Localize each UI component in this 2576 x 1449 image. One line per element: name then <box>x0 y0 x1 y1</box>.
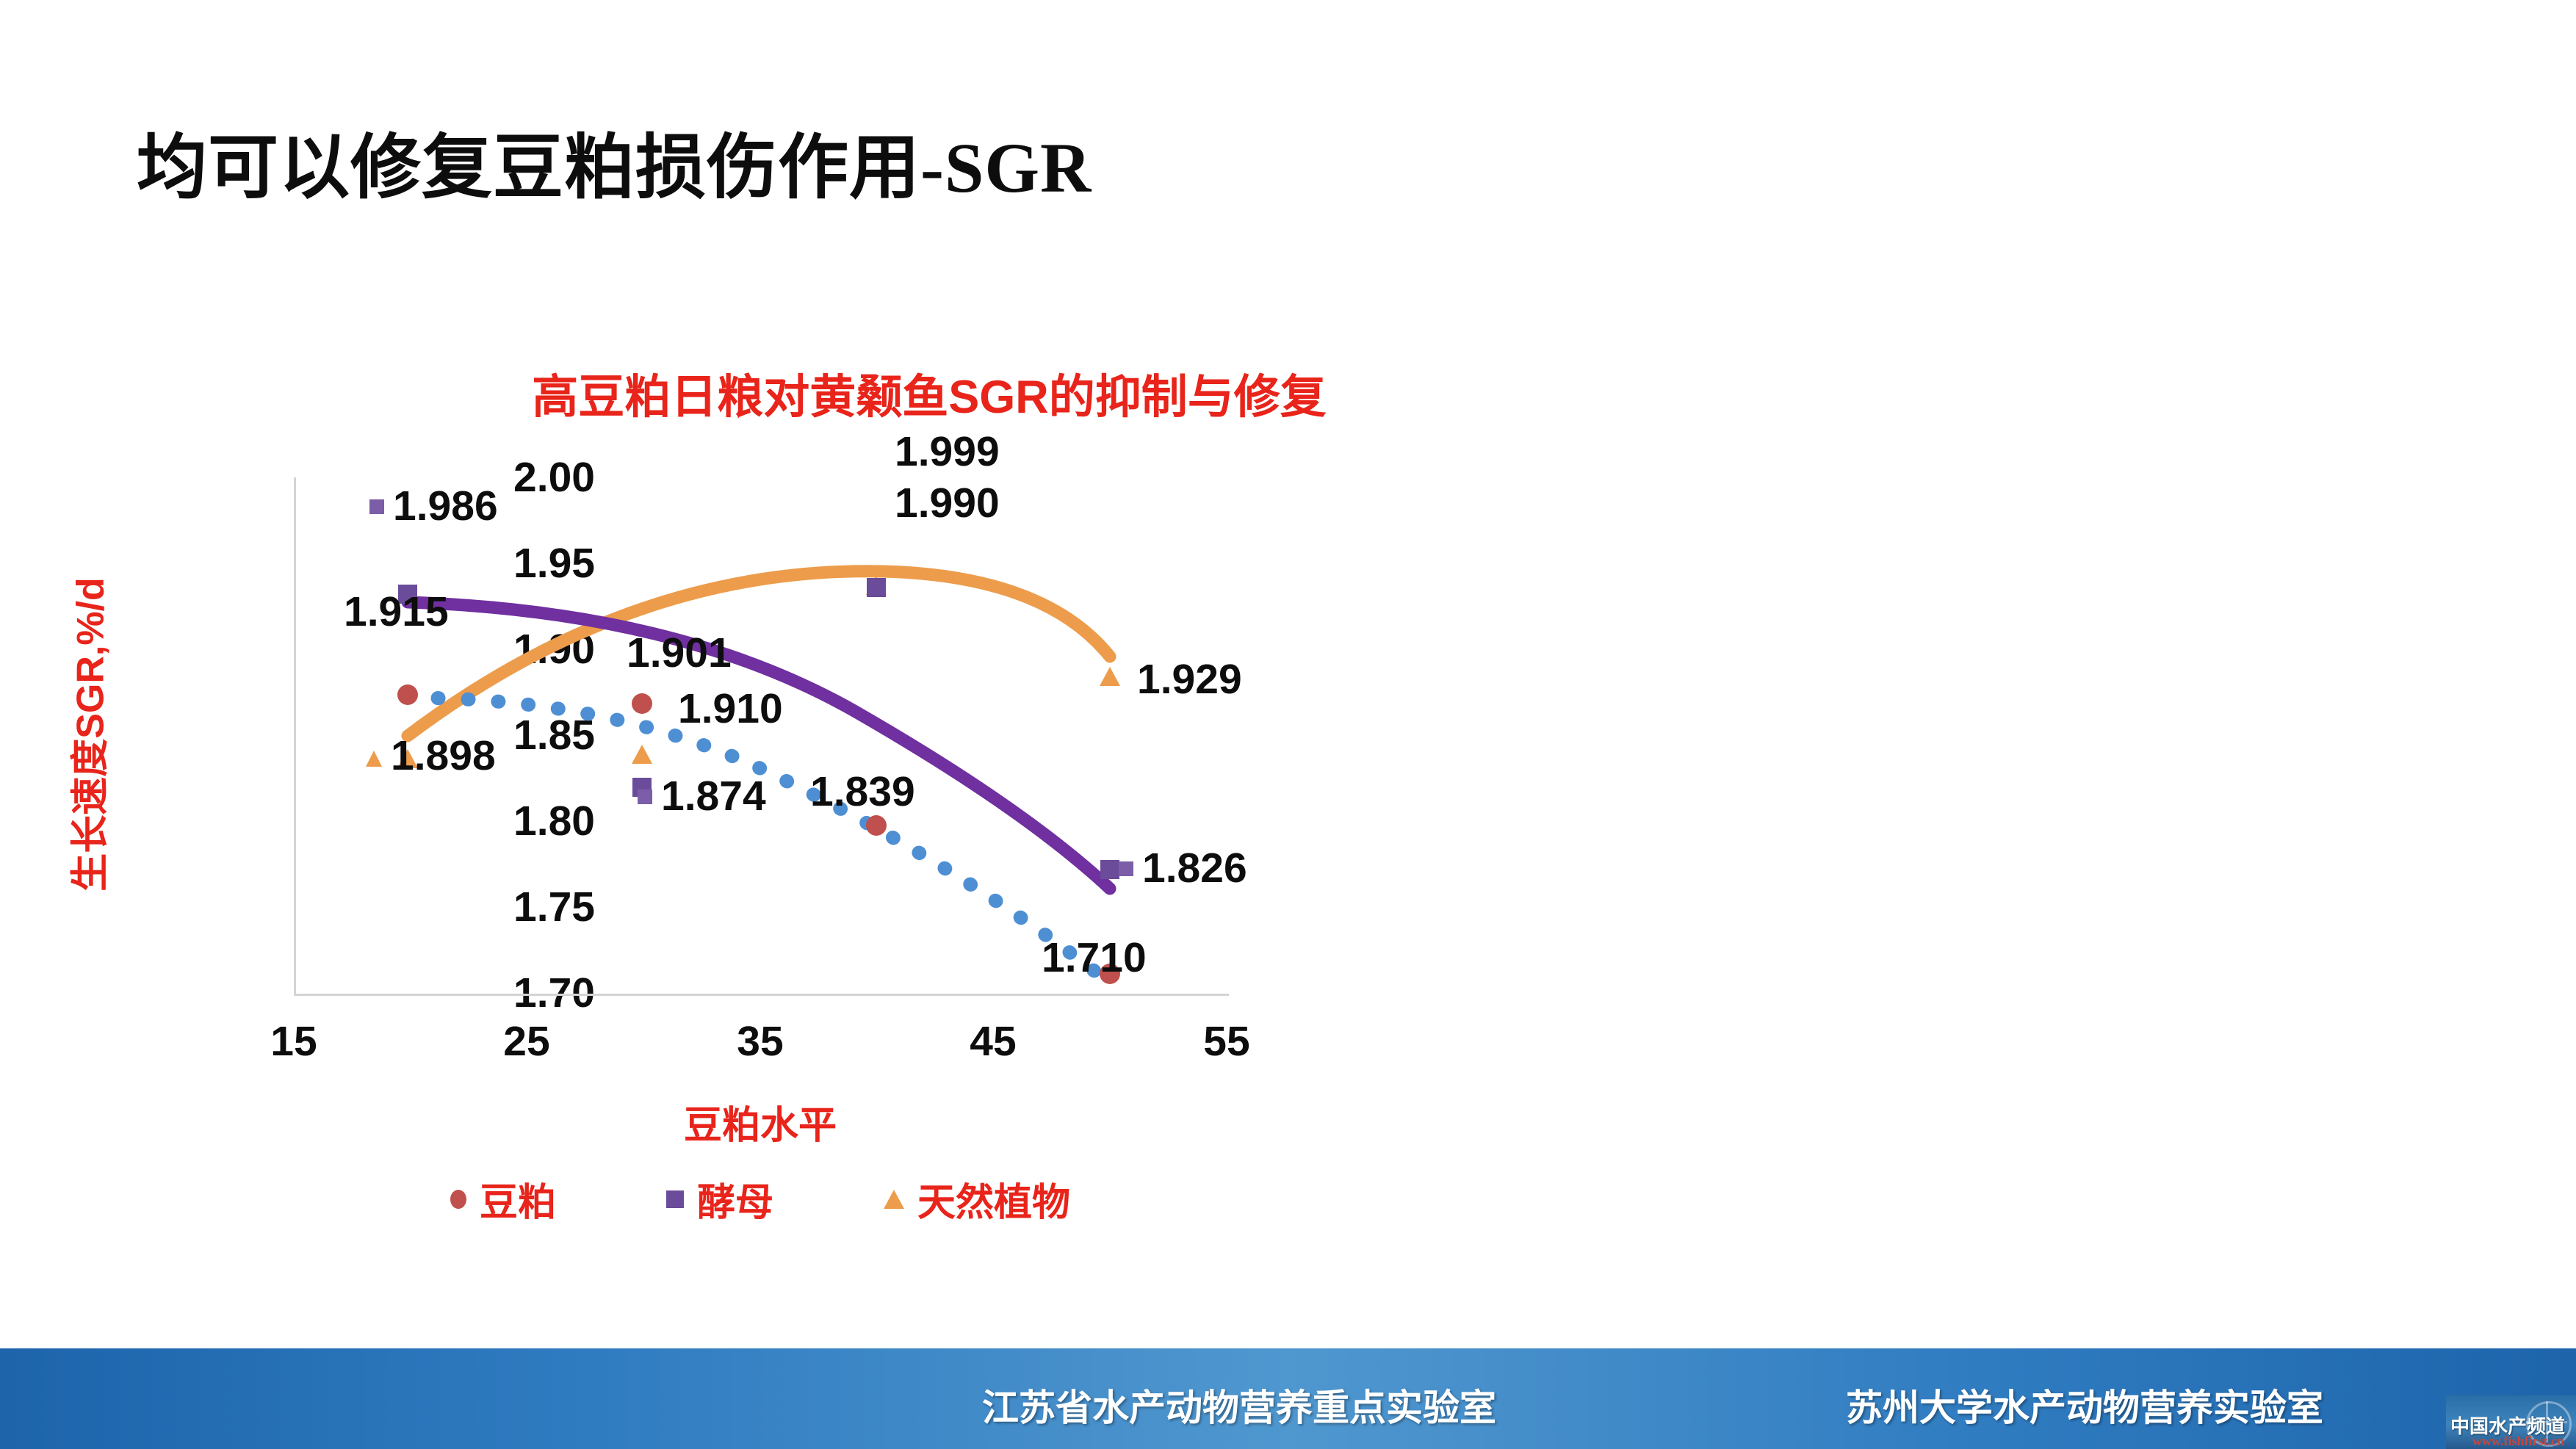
trendline-soybean-meal <box>408 698 1111 984</box>
data-label-yeast-50: 1.826 <box>1119 844 1247 892</box>
data-point-natural-plant <box>632 745 652 764</box>
data-label-soybean-meal-50: 1.710 <box>1042 933 1147 982</box>
data-label-natural-plant-20: 1.898 <box>366 731 496 780</box>
legend-label: 豆粕 <box>480 1171 556 1226</box>
data-label-yeast-40: 1.990 <box>895 479 1000 527</box>
legend-label: 酵母 <box>697 1171 773 1226</box>
legend-item-yeast[interactable]: 酵母 <box>666 1171 773 1226</box>
page-title: 均可以修复豆粕损伤作用-SGR <box>137 110 1092 212</box>
data-label-yeast-20: 1.986 <box>369 482 498 530</box>
trendline-yeast <box>408 602 1110 889</box>
chart-container: 高豆粕日粮对黄颡鱼SGR的抑制与修复 生长速度SGR,%/d 2.00 1.95… <box>0 345 1836 1300</box>
data-point-yeast <box>1100 860 1119 879</box>
data-label-natural-plant-30: 1.901 <box>627 629 732 677</box>
x-axis-tick: 45 <box>934 1017 1052 1066</box>
triangle-marker-icon <box>884 1190 904 1209</box>
x-axis-tick: 55 <box>1168 1017 1285 1066</box>
legend-item-natural-plant[interactable]: 天然植物 <box>884 1171 1070 1226</box>
data-point-soybean-meal <box>632 693 652 714</box>
square-marker-icon <box>666 1190 684 1208</box>
data-label-natural-plant-40: 1.999 <box>895 427 1000 476</box>
footer-lab-jiangsu: 江苏省水产动物营养重点实验室 <box>982 1378 1496 1431</box>
data-point-soybean-meal <box>397 684 418 705</box>
x-axis-tick: 25 <box>468 1017 585 1066</box>
data-label-soybean-meal-40: 1.839 <box>810 767 915 816</box>
x-axis-title: 豆粕水平 <box>294 1094 1227 1149</box>
watermark: 中国水产频道 www.fishfirst.cn <box>2446 1395 2576 1449</box>
footer-lab-suzhou: 苏州大学水产动物营养实验室 <box>1846 1378 2323 1431</box>
data-point-soybean-meal <box>866 815 887 836</box>
square-marker-icon <box>1119 861 1133 876</box>
data-label-yeast-30: 1.874 <box>638 772 766 820</box>
triangle-marker-icon <box>366 751 382 767</box>
x-axis-tick: 15 <box>235 1017 353 1066</box>
legend-item-soybean-meal[interactable]: 豆粕 <box>450 1171 556 1226</box>
circle-marker-icon <box>450 1190 466 1209</box>
x-axis-tick: 35 <box>701 1017 819 1066</box>
plot-area: 1.986 1.915 1.898 1.901 1.910 1.874 1.99… <box>294 477 1229 996</box>
square-marker-icon <box>638 789 652 804</box>
watermark-url: www.fishfirst.cn <box>2472 1434 2564 1449</box>
data-point-yeast <box>867 578 886 597</box>
y-axis-title: 生长速度SGR,%/d <box>59 577 115 892</box>
data-label-soybean-meal-30: 1.910 <box>678 684 783 733</box>
legend-label: 天然植物 <box>917 1171 1070 1226</box>
chart-legend: 豆粕 酵母 天然植物 <box>294 1171 1227 1226</box>
square-marker-icon <box>369 499 384 514</box>
footer-banner: 江苏省水产动物营养重点实验室 苏州大学水产动物营养实验室 中国水产频道 www.… <box>0 1348 2576 1449</box>
data-point-natural-plant <box>1100 667 1120 686</box>
data-label-soybean-meal-20: 1.915 <box>344 588 449 636</box>
data-label-natural-plant-50: 1.929 <box>1137 655 1242 704</box>
chart-title: 高豆粕日粮对黄颡鱼SGR的抑制与修复 <box>470 360 1388 427</box>
